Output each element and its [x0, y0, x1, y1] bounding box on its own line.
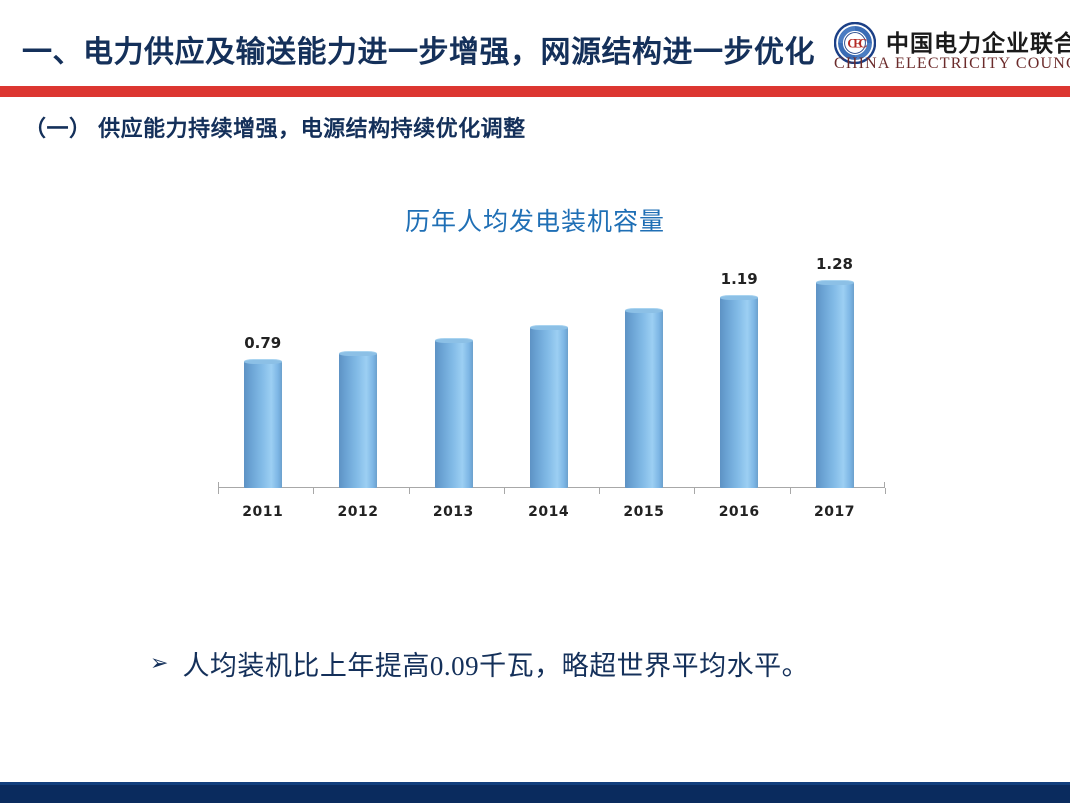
x-axis-tick — [504, 488, 505, 494]
svg-text:C: C — [858, 37, 867, 51]
chart-bar-cap — [625, 308, 663, 313]
x-axis-category-label: 2011 — [218, 504, 308, 520]
chart-bar-slot — [694, 255, 784, 488]
page-title: 一、电力供应及输送能力进一步增强，网源结构进一步优化 — [22, 27, 815, 71]
chart-bar-cap — [720, 295, 758, 300]
chart-title: 历年人均发电装机容量 — [180, 202, 890, 238]
chart-bar-slot — [504, 255, 594, 488]
bullet-text: 人均装机比上年提高0.09千瓦，略超世界平均水平。 — [182, 644, 809, 683]
chart-bar-slot — [313, 255, 403, 488]
bullet-point: ➢ 人均装机比上年提高0.09千瓦，略超世界平均水平。 — [150, 644, 809, 683]
x-axis-category-label: 2016 — [694, 504, 784, 520]
chart-bar[interactable] — [720, 297, 758, 488]
x-axis-tick — [313, 488, 314, 494]
x-axis-tick — [409, 488, 410, 494]
chart-bar-slot — [409, 255, 499, 488]
chart-bar[interactable] — [339, 353, 377, 488]
logo-chinese-name: 中国电力企业联合会 — [886, 24, 1070, 58]
x-axis-tick — [694, 488, 695, 494]
chart-bar-cap — [816, 280, 854, 285]
chart-plot-area: 0.79201120122013201420151.1920161.282017 — [218, 255, 885, 530]
chart-bar-slot — [599, 255, 689, 488]
chart-bar-slot — [218, 255, 308, 488]
chart-value-label: 0.79 — [218, 334, 308, 352]
footer-bar — [0, 785, 1070, 803]
chart-bar[interactable] — [244, 361, 282, 488]
x-axis-category-label: 2014 — [504, 504, 594, 520]
chart-value-label: 1.28 — [790, 255, 880, 273]
x-axis-tick — [790, 488, 791, 494]
arrow-bullet-icon: ➢ — [150, 653, 168, 675]
chart-bar-cap — [530, 325, 568, 330]
chart-value-label: 1.19 — [694, 270, 784, 288]
x-axis-tick — [885, 488, 886, 494]
section-subtitle: （一） 供应能力持续增强，电源结构持续优化调整 — [24, 111, 526, 143]
chart-bar-cap — [435, 338, 473, 343]
chart-bar-cap — [244, 359, 282, 364]
header-red-divider — [0, 86, 1070, 97]
x-axis-tick — [218, 488, 219, 494]
logo-english-name: CHINA ELECTRICITY COUNCIL — [834, 55, 1070, 73]
chart-bar-cap — [339, 351, 377, 356]
slide-header: 一、电力供应及输送能力进一步增强，网源结构进一步优化 C E C 中国电力企业联… — [0, 0, 1070, 86]
x-axis-category-label: 2015 — [599, 504, 689, 520]
chart-bar[interactable] — [530, 327, 568, 488]
chart-container: 历年人均发电装机容量 0.79201120122013201420151.192… — [180, 195, 890, 570]
x-axis-category-label: 2013 — [409, 504, 499, 520]
organization-logo: C E C 中国电力企业联合会 CHINA ELECTRICITY COUNCI… — [834, 20, 1062, 80]
chart-bar[interactable] — [625, 310, 663, 488]
chart-bar[interactable] — [816, 282, 854, 488]
chart-bar[interactable] — [435, 340, 473, 488]
x-axis-category-label: 2012 — [313, 504, 403, 520]
chart-bar-slot — [790, 255, 880, 488]
x-axis-category-label: 2017 — [790, 504, 880, 520]
x-axis-tick — [599, 488, 600, 494]
